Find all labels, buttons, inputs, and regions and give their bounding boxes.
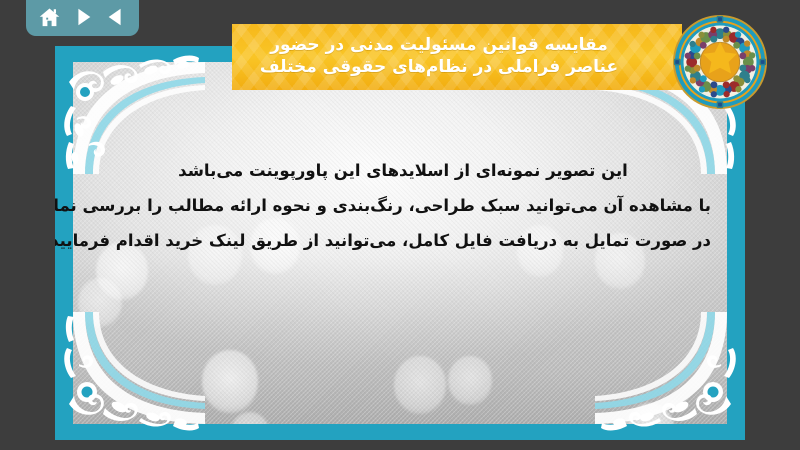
bokeh-circle (625, 403, 675, 424)
persian-medallion-ornament (672, 14, 768, 110)
bokeh-circle (448, 356, 492, 405)
home-button[interactable] (36, 4, 62, 30)
persian-medallion-icon (672, 14, 768, 110)
previous-slide-button[interactable] (103, 4, 129, 30)
slide-body-text: این تصویر نمونه‌ای از اسلایدهای این پاور… (95, 154, 711, 259)
triangle-right-icon (72, 6, 94, 28)
triangle-left-icon (105, 6, 127, 28)
slide-viewer: این تصویر نمونه‌ای از اسلایدهای این پاور… (0, 0, 800, 450)
bokeh-circle (202, 350, 258, 413)
title-line-2: عناصر فراملی در نظام‌های حقوقی مختلف (260, 57, 618, 79)
bokeh-circle (394, 356, 446, 414)
bokeh-circle (230, 412, 270, 424)
slide-navigation-bar (26, 0, 139, 36)
body-line-1: این تصویر نمونه‌ای از اسلایدهای این پاور… (95, 154, 711, 189)
slide-title-banner: مقایسه قوانین مسئولیت مدنی در حضور عناصر… (232, 24, 720, 90)
bokeh-circle (78, 278, 122, 327)
body-line-2: با مشاهده آن می‌توانید سبک طراحی، رنگ‌بن… (95, 189, 711, 224)
home-icon (38, 6, 61, 29)
slide-canvas: این تصویر نمونه‌ای از اسلایدهای این پاور… (55, 46, 745, 440)
slide-teal-frame: این تصویر نمونه‌ای از اسلایدهای این پاور… (55, 46, 745, 440)
title-line-1: مقایسه قوانین مسئولیت مدنی در حضور (270, 35, 608, 57)
body-line-3: در صورت تمایل به دریافت فایل کامل، می‌تو… (95, 224, 711, 259)
banner-body: مقایسه قوانین مسئولیت مدنی در حضور عناصر… (232, 24, 682, 90)
next-slide-button[interactable] (70, 4, 96, 30)
